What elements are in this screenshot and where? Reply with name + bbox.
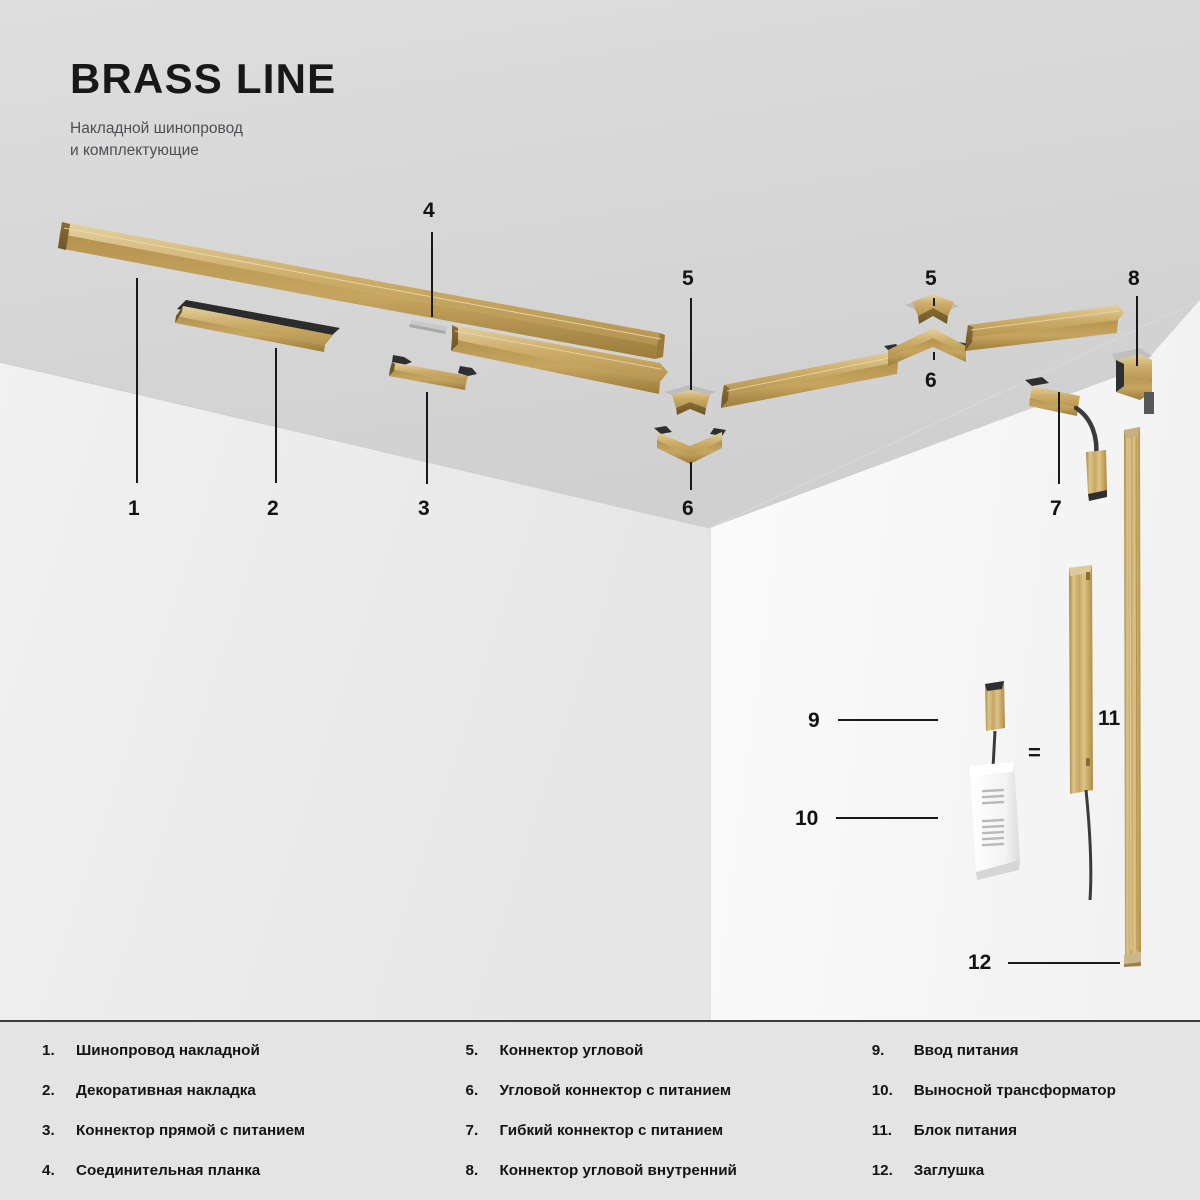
legend-item: 4.Соединительная планка	[42, 1162, 448, 1196]
callout-leader-10	[836, 817, 938, 819]
legend-item-label: Декоративная накладка	[76, 1082, 256, 1099]
legend-item-number: 4.	[42, 1162, 76, 1179]
legend-item: 5.Коннектор угловой	[466, 1042, 852, 1076]
product-diagram-page: BRASS LINE Накладной шинопровод и компле…	[0, 0, 1200, 1200]
callout-number-2: 2	[267, 498, 279, 519]
legend-item-number: 12.	[872, 1162, 914, 1179]
remote-transformer	[970, 762, 1020, 880]
callout-leader-6	[933, 352, 935, 360]
callout-leader-5	[690, 298, 692, 390]
equals-sign: =	[1028, 740, 1041, 766]
callout-number-5: 5	[682, 268, 694, 289]
callout-number-3: 3	[418, 498, 430, 519]
callout-number-4: 4	[423, 200, 435, 221]
callout-leader-4	[431, 232, 433, 317]
legend-item-number: 6.	[466, 1082, 500, 1099]
legend-item-label: Заглушка	[914, 1162, 985, 1179]
callout-number-7: 7	[1050, 498, 1062, 519]
legend-item-number: 5.	[466, 1042, 500, 1059]
callout-leader-12	[1008, 962, 1120, 964]
callout-number-12: 12	[968, 952, 991, 973]
legend-item-label: Угловой коннектор с питанием	[500, 1082, 732, 1099]
legend-item: 1.Шинопровод накладной	[42, 1042, 448, 1076]
track-rail-vertical	[1124, 427, 1141, 955]
callout-number-8: 8	[1128, 268, 1140, 289]
legend-item-label: Шинопровод накладной	[76, 1042, 260, 1059]
legend-item-number: 9.	[872, 1042, 914, 1059]
callout-leader-8	[1136, 296, 1138, 366]
legend-item-label: Соединительная планка	[76, 1162, 260, 1179]
legend-item: 8.Коннектор угловой внутренний	[466, 1162, 852, 1196]
callout-leader-5	[933, 298, 935, 306]
legend-item-number: 2.	[42, 1082, 76, 1099]
page-title: BRASS LINE	[70, 58, 336, 100]
legend-column-2: 5.Коннектор угловой6.Угловой коннектор с…	[448, 1022, 852, 1200]
legend-item-label: Коннектор угловой	[500, 1042, 644, 1059]
legend-item: 6.Угловой коннектор с питанием	[466, 1082, 852, 1116]
legend-item-number: 11.	[872, 1122, 914, 1139]
legend-item-label: Ввод питания	[914, 1042, 1019, 1059]
legend-item-label: Коннектор угловой внутренний	[500, 1162, 737, 1179]
callout-number-11: 11	[1098, 708, 1120, 729]
callout-number-9: 9	[808, 710, 820, 731]
footer-divider	[0, 1020, 1200, 1022]
legend-item-number: 7.	[466, 1122, 500, 1139]
callout-number-6: 6	[682, 498, 694, 519]
page-subtitle: Накладной шинопровод и комплектующие	[70, 118, 330, 163]
legend-item-label: Блок питания	[914, 1122, 1017, 1139]
callout-number-6: 6	[925, 370, 937, 391]
legend-column-1: 1.Шинопровод накладной2.Декоративная нак…	[0, 1022, 448, 1200]
legend-item-label: Выносной трансформатор	[914, 1082, 1116, 1099]
callout-leader-9	[838, 719, 938, 721]
callout-leader-1	[136, 278, 138, 483]
legend-item: 2.Декоративная накладка	[42, 1082, 448, 1116]
subtitle-line-2: и комплектующие	[70, 140, 330, 162]
callout-leader-6	[690, 462, 692, 490]
legend-item: 7.Гибкий коннектор с питанием	[466, 1122, 852, 1156]
legend-item: 3.Коннектор прямой с питанием	[42, 1122, 448, 1156]
subtitle-line-1: Накладной шинопровод	[70, 118, 330, 140]
legend-item-label: Коннектор прямой с питанием	[76, 1122, 305, 1139]
callout-leader-2	[275, 348, 277, 483]
legend-item-label: Гибкий коннектор с питанием	[500, 1122, 724, 1139]
legend-column-3: 9.Ввод питания10.Выносной трансформатор1…	[852, 1022, 1200, 1200]
legend-item-number: 10.	[872, 1082, 914, 1099]
callout-number-5: 5	[925, 268, 937, 289]
legend-panel: 1.Шинопровод накладной2.Декоративная нак…	[0, 1022, 1200, 1200]
legend-item-number: 3.	[42, 1122, 76, 1139]
callout-number-1: 1	[128, 498, 140, 519]
callout-leader-3	[426, 392, 428, 484]
header-block: BRASS LINE Накладной шинопровод и компле…	[70, 58, 336, 163]
legend-item: 12.Заглушка	[872, 1162, 1200, 1196]
legend-item-number: 1.	[42, 1042, 76, 1059]
legend-item: 9.Ввод питания	[872, 1042, 1200, 1076]
legend-item: 10.Выносной трансформатор	[872, 1082, 1200, 1116]
legend-item: 11.Блок питания	[872, 1122, 1200, 1156]
legend-item-number: 8.	[466, 1162, 500, 1179]
callout-leader-7	[1058, 392, 1060, 484]
callout-number-10: 10	[795, 808, 818, 829]
